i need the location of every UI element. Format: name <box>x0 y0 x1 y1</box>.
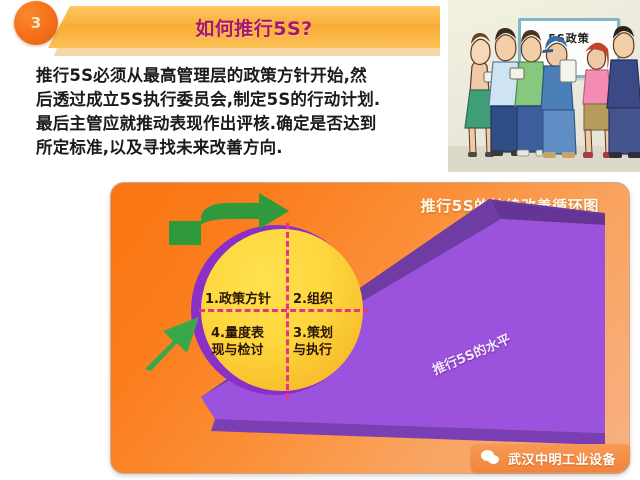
watermark-text: 武汉中明工业设备 <box>508 449 616 468</box>
paragraph-line-1: 推行5S必须从最高管理层的政策方针开始,然 <box>36 64 436 88</box>
improvement-cycle-panel: 推行5S的持续改善循环图 推行5S的水平 1.政策方针 2.组织 4.量度表 现… <box>110 182 630 474</box>
people-group-figures <box>448 0 640 172</box>
body-paragraph: 推行5S必须从最高管理层的政策方针开始,然 后透过成立5S执行委员会,制定5S的… <box>36 64 436 160</box>
quadrant-4-line-1: 4.量度表 <box>211 325 264 342</box>
pdca-cycle-circle: 1.政策方针 2.组织 4.量度表 现与检讨 3.策划 与执行 <box>197 229 363 395</box>
quadrant-4-label: 4.量度表 现与检讨 <box>211 325 264 359</box>
quadrant-4-line-2: 现与检讨 <box>211 342 264 359</box>
watermark-badge: 武汉中明工业设备 <box>471 444 630 472</box>
green-arrow-up-right-icon <box>143 311 205 373</box>
green-hook-arrow-right-icon <box>167 191 291 247</box>
page-title: 如何推行5S? <box>175 14 312 41</box>
quadrant-3-line-2: 与执行 <box>293 342 333 359</box>
quadrant-1-label: 1.政策方针 <box>205 291 271 308</box>
slide-number-badge: 3 <box>14 1 58 45</box>
paragraph-line-3: 最后主管应就推动表现作出评核.确定是否达到 <box>36 112 436 136</box>
cycle-divider-horizontal <box>199 309 369 312</box>
slide-number-text: 3 <box>31 14 41 32</box>
slide-root: 如何推行5S? 3 推行5S必须从最高管理层的政策方针开始,然 后透过成立5S执… <box>0 0 640 480</box>
quadrant-2-label: 2.组织 <box>293 291 333 308</box>
paragraph-line-2: 后透过成立5S执行委员会,制定5S的行动计划. <box>36 88 436 112</box>
quadrant-3-label: 3.策划 与执行 <box>293 325 333 359</box>
team-meeting-illustration: 5S政策 <box>448 0 640 172</box>
paragraph-line-4: 所定标准,以及寻找未来改善方向. <box>36 136 436 160</box>
header-banner: 如何推行5S? <box>48 6 440 52</box>
wechat-icon <box>481 450 501 466</box>
quadrant-3-line-1: 3.策划 <box>293 325 333 342</box>
banner-body: 如何推行5S? <box>48 6 440 48</box>
